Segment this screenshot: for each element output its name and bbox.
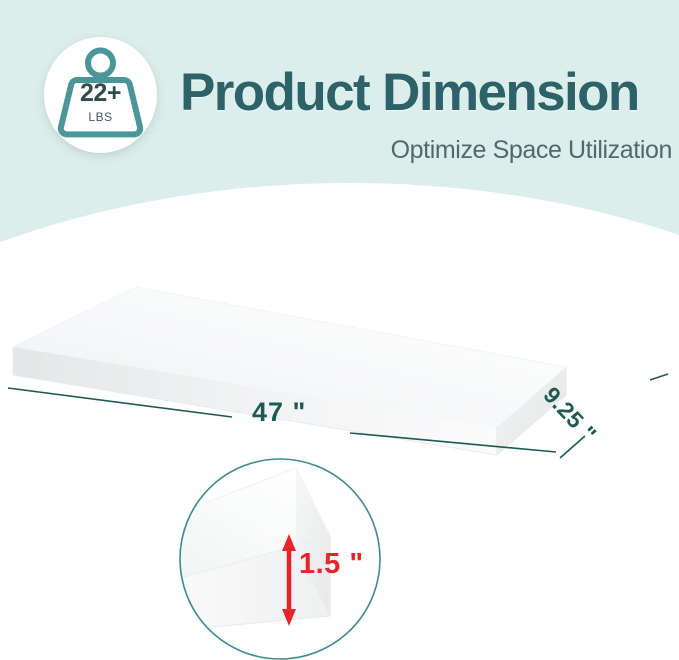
product-dimension-infographic: 22+ LBS Product Dimension Optimize Space… — [0, 0, 679, 660]
badge-weight-value: 22+ — [44, 81, 157, 106]
width-dimension-label: 47 " — [252, 399, 306, 426]
weight-capacity-badge: 22+ LBS — [44, 37, 159, 155]
badge-weight-unit: LBS — [44, 111, 157, 123]
page-title: Product Dimension — [180, 66, 639, 119]
thickness-dimension-label: 1.5 " — [299, 550, 364, 579]
page-subtitle: Optimize Space Utilization — [391, 138, 679, 163]
